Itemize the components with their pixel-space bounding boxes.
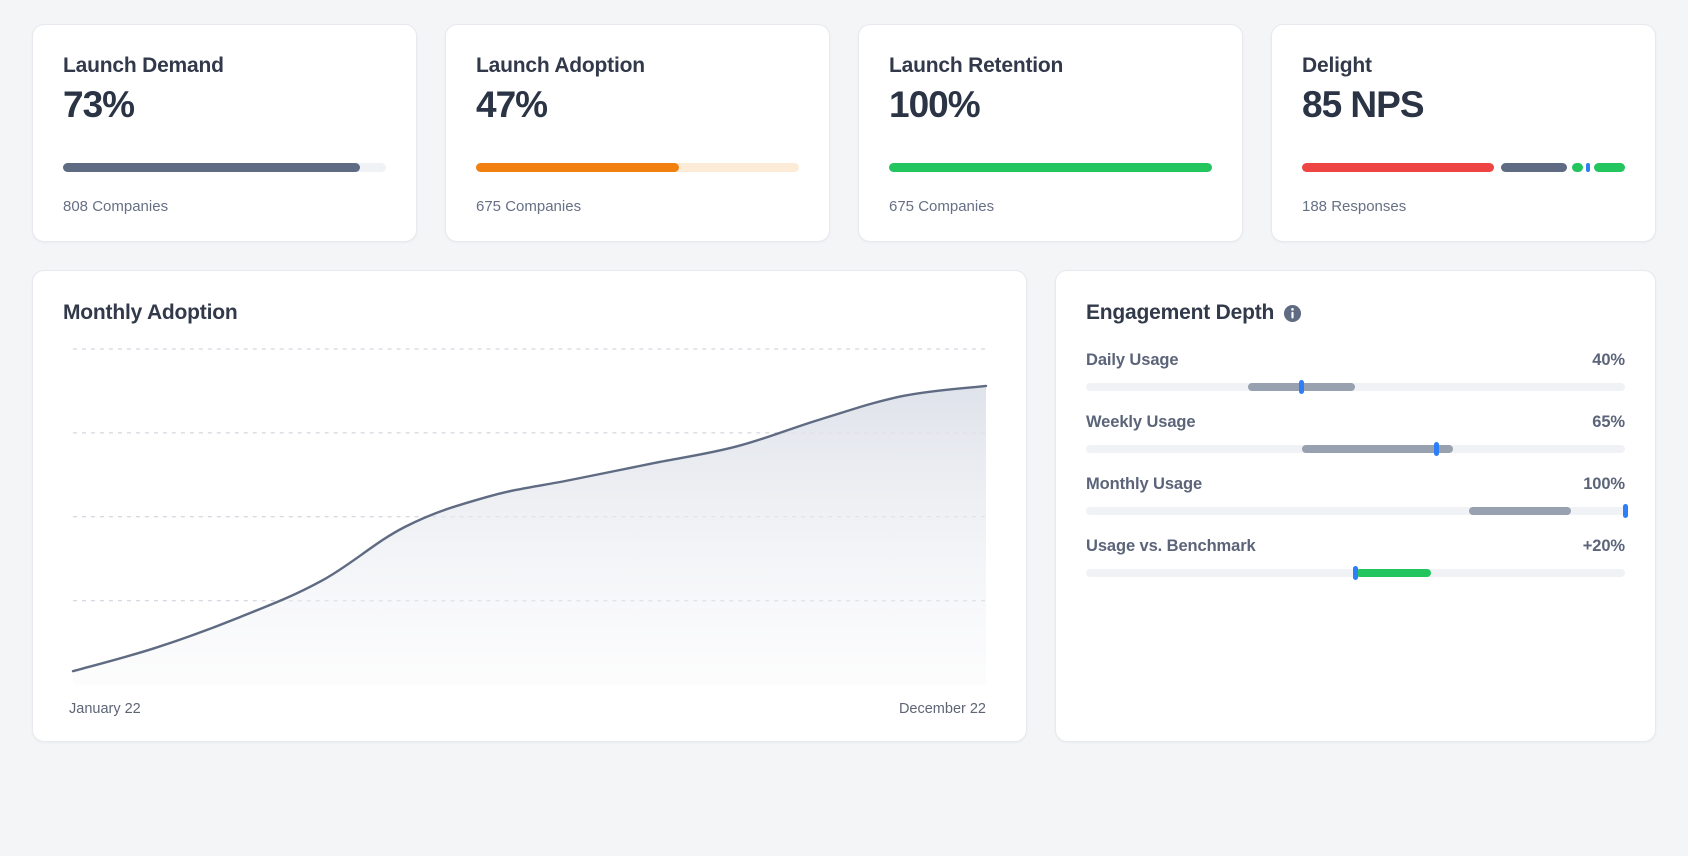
kpi-value: 100% [889, 84, 1212, 127]
engagement-row: Usage vs. Benchmark+20% [1086, 537, 1625, 577]
chart-area-fill [73, 386, 986, 685]
nps-segment-detractors [1302, 163, 1494, 172]
engagement-row: Weekly Usage65% [1086, 413, 1625, 453]
kpi-card-launch-adoption[interactable]: Launch Adoption 47% 675 Companies [445, 24, 830, 242]
engagement-row-header: Usage vs. Benchmark+20% [1086, 537, 1625, 556]
progress-bar-fill [63, 163, 360, 172]
kpi-label: Launch Demand [63, 53, 386, 78]
progress-bar-fill [476, 163, 679, 172]
kpi-label: Launch Adoption [476, 53, 799, 78]
engagement-slider-range [1302, 445, 1453, 453]
kpi-bar-wrapper: 675 Companies [889, 137, 1212, 215]
engagement-slider-track[interactable] [1086, 569, 1625, 577]
chart-x-axis: January 22 December 22 [63, 701, 992, 717]
engagement-metric-value: 65% [1592, 413, 1625, 432]
kpi-card-launch-retention[interactable]: Launch Retention 100% 675 Companies [858, 24, 1243, 242]
engagement-metric-value: +20% [1583, 537, 1625, 556]
lower-content-row: Monthly Adoption January 22 Decemb [32, 270, 1656, 742]
engagement-slider-track[interactable] [1086, 383, 1625, 391]
engagement-metric-name: Weekly Usage [1086, 413, 1195, 432]
kpi-value: 73% [63, 84, 386, 127]
engagement-slider-marker[interactable] [1434, 442, 1439, 456]
nps-segment-promoters-a [1572, 163, 1583, 172]
engagement-row-header: Daily Usage40% [1086, 351, 1625, 370]
chart-svg [63, 343, 992, 693]
nps-segment-passives [1501, 163, 1567, 172]
engagement-slider-marker[interactable] [1353, 566, 1358, 580]
nps-segment-promoters-b [1594, 163, 1625, 172]
kpi-value: 85 NPS [1302, 84, 1625, 127]
engagement-slider-range [1356, 569, 1431, 577]
kpi-label: Delight [1302, 53, 1625, 78]
x-axis-label-end: December 22 [899, 701, 986, 717]
monthly-adoption-panel: Monthly Adoption January 22 Decemb [32, 270, 1027, 742]
panel-title: Engagement Depth [1086, 301, 1274, 325]
engagement-depth-panel: Engagement Depth Daily Usage40%Weekly Us… [1055, 270, 1656, 742]
engagement-metric-name: Daily Usage [1086, 351, 1178, 370]
kpi-label: Launch Retention [889, 53, 1212, 78]
progress-bar-track [476, 163, 799, 172]
kpi-footnote: 188 Responses [1302, 198, 1625, 215]
engagement-slider-track[interactable] [1086, 507, 1625, 515]
kpi-value: 47% [476, 84, 799, 127]
engagement-slider-marker[interactable] [1299, 380, 1304, 394]
kpi-card-delight[interactable]: Delight 85 NPS 188 Responses [1271, 24, 1656, 242]
engagement-metric-name: Monthly Usage [1086, 475, 1202, 494]
engagement-slider-range [1469, 507, 1571, 515]
engagement-slider-track[interactable] [1086, 445, 1625, 453]
kpi-footnote: 675 Companies [889, 198, 1212, 215]
engagement-metric-list: Daily Usage40%Weekly Usage65%Monthly Usa… [1086, 351, 1625, 577]
kpi-footnote: 675 Companies [476, 198, 799, 215]
engagement-header: Engagement Depth [1086, 301, 1625, 325]
nps-segment-marker [1586, 163, 1591, 172]
kpi-bar-wrapper: 808 Companies [63, 137, 386, 215]
info-icon[interactable] [1283, 304, 1302, 323]
engagement-metric-value: 40% [1592, 351, 1625, 370]
kpi-bar-wrapper: 675 Companies [476, 137, 799, 215]
dashboard-page: Launch Demand 73% 808 Companies Launch A… [0, 0, 1688, 856]
kpi-bar-wrapper: 188 Responses [1302, 137, 1625, 215]
progress-bar-track [889, 163, 1212, 172]
engagement-metric-value: 100% [1583, 475, 1625, 494]
engagement-row: Monthly Usage100% [1086, 475, 1625, 515]
progress-bar-track [63, 163, 386, 172]
kpi-footnote: 808 Companies [63, 198, 386, 215]
engagement-metric-name: Usage vs. Benchmark [1086, 537, 1256, 556]
adoption-area-chart[interactable] [63, 343, 992, 693]
engagement-row-header: Weekly Usage65% [1086, 413, 1625, 432]
x-axis-label-start: January 22 [69, 701, 141, 717]
kpi-card-row: Launch Demand 73% 808 Companies Launch A… [32, 24, 1656, 242]
engagement-row-header: Monthly Usage100% [1086, 475, 1625, 494]
panel-title: Monthly Adoption [63, 301, 992, 325]
progress-bar-fill [889, 163, 1212, 172]
nps-distribution-bar [1302, 163, 1625, 172]
engagement-slider-marker[interactable] [1623, 504, 1628, 518]
kpi-card-launch-demand[interactable]: Launch Demand 73% 808 Companies [32, 24, 417, 242]
engagement-row: Daily Usage40% [1086, 351, 1625, 391]
